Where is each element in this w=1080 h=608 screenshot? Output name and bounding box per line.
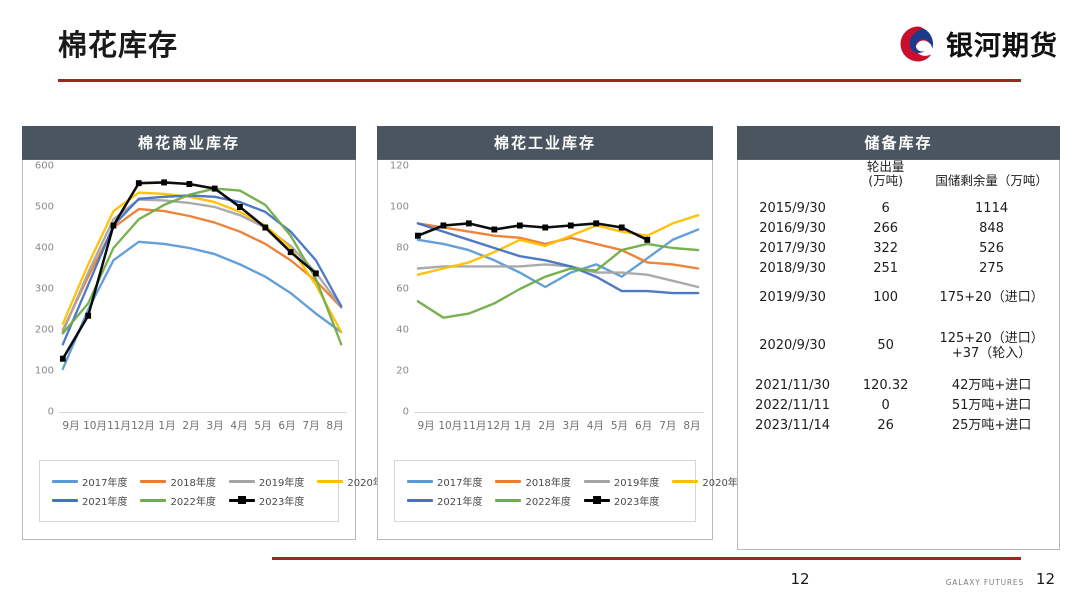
legend-label: 2018年度 [525,474,570,489]
legend-commercial: 2017年度2018年度2019年度2020年度2021年度2022年度2023… [39,460,339,522]
y-tick-label: 40 [396,325,409,336]
legend-swatch-2023年度 [229,499,255,502]
y-tick-label: 600 [35,161,54,172]
y-tick-label: 100 [35,366,54,377]
legend-label: 2019年度 [614,474,659,489]
x-axis-labels-commercial: 9月10月11月12月1月2月3月4月5月6月7月8月 [59,418,347,440]
lines-industrial [414,160,704,412]
legend-label: 2017年度 [437,474,482,489]
table-row: 2022/11/11051万吨+进口 [738,396,1059,416]
y-axis-labels-commercial: 0100200300400500600 [23,160,57,412]
table-row: 2020/9/3050125+20（进口）+37（轮入） [738,317,1059,376]
legend-swatch-2019年度 [229,480,255,483]
header-date [738,160,847,198]
cell-date: 2023/11/14 [738,416,847,436]
x-axis-labels-industrial: 9月10月11月12月1月2月3月4月5月6月7月8月 [414,418,704,440]
x-tick-label: 11月 [462,418,486,440]
x-tick-label: 11月 [107,418,131,440]
x-tick-label: 3月 [203,418,227,440]
panel-commercial-inventory: 棉花商业库存 0100200300400500600 9月10月11月12月1月… [22,126,356,540]
panel-commercial-title: 棉花商业库存 [22,126,356,160]
cell-state-reserve-remaining: 1114 [924,198,1059,218]
legend-swatch-2021年度 [52,499,78,502]
table-row: 2017/9/30322526 [738,239,1059,259]
x-tick-label: 6月 [632,418,656,440]
table-row: 2023/11/142625万吨+进口 [738,416,1059,436]
footer-divider [272,557,1021,560]
cell-date: 2015/9/30 [738,198,847,218]
y-tick-label: 120 [390,161,409,172]
cell-state-reserve-remaining: 42万吨+进口 [924,375,1059,395]
chart-commercial-inventory: 0100200300400500600 9月10月11月12月1月2月3月4月5… [22,160,356,540]
legend-item-2018年度[interactable]: 2018年度 [495,474,570,489]
legend-item-2019年度[interactable]: 2019年度 [229,474,304,489]
header-rotation-out-line2: (万吨) [847,174,924,188]
page-title: 棉花库存 [58,22,178,64]
x-tick-label: 2月 [179,418,203,440]
plot-area-commercial: 0100200300400500600 9月10月11月12月1月2月3月4月5… [23,160,355,452]
cell-state-reserve-remaining: 25万吨+进口 [924,416,1059,436]
x-tick-label: 7月 [656,418,680,440]
reserve-table-head: 轮出量 (万吨) 国储剩余量（万吨） [738,160,1059,198]
x-tick-label: 8月 [680,418,704,440]
galaxy-swoosh-logo-icon [899,25,937,63]
y-axis-labels-industrial: 020406080100120 [378,160,412,412]
cell-remain-line2: +37（轮入） [924,346,1059,361]
cell-state-reserve-remaining: 175+20（进口） [924,279,1059,316]
legend-swatch-2022年度 [495,499,521,502]
legend-item-2023年度[interactable]: 2023年度 [229,493,304,508]
cell-date: 2021/11/30 [738,375,847,395]
legend-swatch-2018年度 [140,480,166,483]
table-row: 2021/11/30120.3242万吨+进口 [738,375,1059,395]
reserve-table-container: 轮出量 (万吨) 国储剩余量（万吨） 2015/9/30611142016/9/… [737,160,1060,550]
page-header: 棉花库存 银河期货 [0,0,1080,92]
cell-state-reserve-remaining: 275 [924,259,1059,279]
x-axis-line-commercial [59,412,347,413]
table-row: 2015/9/3061114 [738,198,1059,218]
legend-item-2021年度[interactable]: 2021年度 [52,493,127,508]
x-tick-label: 8月 [323,418,347,440]
y-tick-label: 100 [390,202,409,213]
legend-item-2021年度[interactable]: 2021年度 [407,493,482,508]
legend-label: 2018年度 [170,474,215,489]
panel-reserve-title: 储备库存 [737,126,1060,160]
table-row: 2019/9/30100175+20（进口） [738,279,1059,316]
y-tick-label: 0 [403,407,409,418]
lines-commercial [59,160,347,412]
legend-row-1: 2017年度2018年度2019年度2020年度 [46,472,332,491]
footer-brand-page-number: 12 [1036,570,1055,588]
x-tick-label: 10月 [438,418,462,440]
y-tick-label: 400 [35,243,54,254]
panel-industrial-title: 棉花工业库存 [377,126,713,160]
legend-item-2022年度[interactable]: 2022年度 [140,493,215,508]
x-tick-label: 9月 [59,418,83,440]
legend-label: 2023年度 [614,493,659,508]
chart-industrial-inventory: 020406080100120 9月10月11月12月1月2月3月4月5月6月7… [377,160,713,540]
legend-item-2022年度[interactable]: 2022年度 [495,493,570,508]
x-tick-label: 7月 [299,418,323,440]
x-tick-label: 10月 [83,418,107,440]
legend-item-2017年度[interactable]: 2017年度 [52,474,127,489]
panel-industrial-inventory: 棉花工业库存 020406080100120 9月10月11月12月1月2月3月… [377,126,713,540]
cell-state-reserve-remaining: 848 [924,218,1059,238]
table-row: 2018/9/30251275 [738,259,1059,279]
cell-state-reserve-remaining: 125+20（进口）+37（轮入） [924,317,1059,376]
cell-remain-line1: 125+20（进口） [924,331,1059,346]
x-tick-label: 2月 [535,418,559,440]
table-header-row: 轮出量 (万吨) 国储剩余量（万吨） [738,160,1059,198]
legend-label: 2021年度 [82,493,127,508]
legend-row-2: 2021年度2022年度2023年度 [46,491,332,510]
header-rotation-out: 轮出量 (万吨) [847,160,924,198]
page-number: 12 [780,570,820,588]
legend-swatch-2018年度 [495,480,521,483]
x-tick-label: 1月 [155,418,179,440]
legend-label: 2023年度 [259,493,304,508]
legend-row-2: 2021年度2022年度2023年度 [401,491,689,510]
table-row: 2016/9/30266848 [738,218,1059,238]
cell-state-reserve-remaining: 51万吨+进口 [924,396,1059,416]
header-rotation-out-line1: 轮出量 [847,160,924,174]
legend-item-2023年度[interactable]: 2023年度 [584,493,659,508]
y-tick-label: 300 [35,284,54,295]
x-tick-label: 1月 [511,418,535,440]
reserve-table: 轮出量 (万吨) 国储剩余量（万吨） 2015/9/30611142016/9/… [738,160,1059,436]
panel-reserve-inventory: 储备库存 轮出量 (万吨) 国储剩余量（万吨） 2015/9/306111420… [737,126,1060,550]
cell-state-reserve-remaining: 526 [924,239,1059,259]
legend-swatch-2023年度 [584,499,610,502]
legend-label: 2017年度 [82,474,127,489]
header-divider [58,79,1021,82]
legend-swatch-2021年度 [407,499,433,502]
x-tick-label: 3月 [559,418,583,440]
x-axis-line-industrial [414,412,704,413]
cell-rotation-out: 322 [847,239,924,259]
x-tick-label: 5月 [251,418,275,440]
legend-label: 2022年度 [170,493,215,508]
legend-item-2017年度[interactable]: 2017年度 [407,474,482,489]
legend-swatch-2020年度 [672,480,698,483]
cell-date: 2018/9/30 [738,259,847,279]
footer-brand-text: GALAXY FUTURES [946,578,1024,587]
y-tick-label: 80 [396,243,409,254]
cell-rotation-out: 26 [847,416,924,436]
header-state-reserve-remaining: 国储剩余量（万吨） [924,160,1059,198]
cell-rotation-out: 100 [847,279,924,316]
legend-label: 2019年度 [259,474,304,489]
legend-swatch-2017年度 [407,480,433,483]
legend-swatch-2017年度 [52,480,78,483]
y-tick-label: 500 [35,202,54,213]
cell-date: 2017/9/30 [738,239,847,259]
cell-rotation-out: 50 [847,317,924,376]
cell-rotation-out: 251 [847,259,924,279]
y-tick-label: 0 [48,407,54,418]
cell-date: 2016/9/30 [738,218,847,238]
y-tick-label: 200 [35,325,54,336]
y-tick-label: 20 [396,366,409,377]
x-tick-label: 6月 [275,418,299,440]
legend-label: 2021年度 [437,493,482,508]
legend-row-1: 2017年度2018年度2019年度2020年度 [401,472,689,491]
cell-date: 2022/11/11 [738,396,847,416]
x-tick-label: 4月 [227,418,251,440]
cell-rotation-out: 6 [847,198,924,218]
y-tick-label: 60 [396,284,409,295]
legend-swatch-2020年度 [317,480,343,483]
cell-rotation-out: 0 [847,396,924,416]
plot-area-industrial: 020406080100120 9月10月11月12月1月2月3月4月5月6月7… [378,160,712,452]
legend-item-2018年度[interactable]: 2018年度 [140,474,215,489]
cell-rotation-out: 266 [847,218,924,238]
brand-name: 银河期货 [946,24,1058,63]
legend-swatch-2022年度 [140,499,166,502]
legend-swatch-2019年度 [584,480,610,483]
cell-date: 2020/9/30 [738,317,847,376]
legend-label: 2022年度 [525,493,570,508]
x-tick-label: 9月 [414,418,438,440]
legend-industrial: 2017年度2018年度2019年度2020年度2021年度2022年度2023… [394,460,696,522]
x-tick-label: 4月 [583,418,607,440]
brand-block: 银河期货 [899,24,1058,63]
x-tick-label: 12月 [487,418,511,440]
cell-date: 2019/9/30 [738,279,847,316]
reserve-table-body: 2015/9/30611142016/9/302668482017/9/3032… [738,198,1059,436]
cell-rotation-out: 120.32 [847,375,924,395]
x-tick-label: 5月 [607,418,631,440]
x-tick-label: 12月 [131,418,155,440]
legend-item-2019年度[interactable]: 2019年度 [584,474,659,489]
